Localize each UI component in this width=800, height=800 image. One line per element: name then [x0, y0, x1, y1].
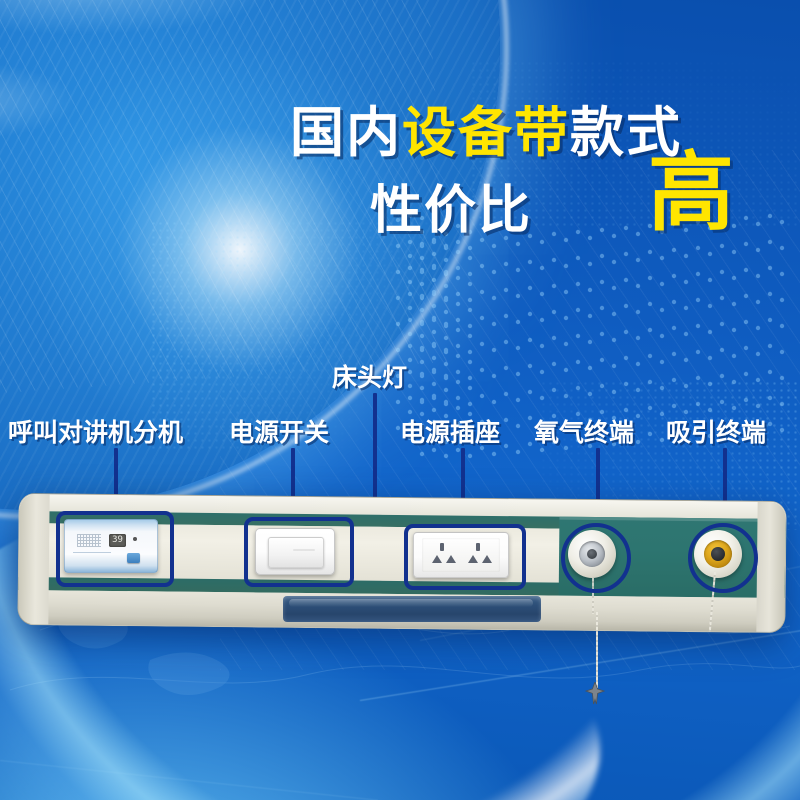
headline-line-2: 性价比	[370, 168, 532, 243]
headline-line-1: 国内设备带款式	[290, 88, 682, 167]
callout-power-switch: 电源开关	[229, 413, 329, 449]
light-strip-gloss	[289, 599, 533, 607]
highlight-power-switch	[244, 517, 354, 587]
callout-suction-outlet: 吸引终端	[666, 413, 766, 449]
panel-end-cap-right	[756, 502, 785, 633]
headline-group: 国内设备带款式 性价比 高	[0, 0, 800, 260]
headline-1-highlight: 设备带	[402, 103, 570, 163]
headline-1-part1: 国内	[290, 103, 402, 163]
callout-oxygen-outlet: 氧气终端	[534, 413, 634, 449]
highlight-oxygen-outlet	[561, 523, 631, 593]
pull-cord[interactable]	[596, 612, 598, 688]
callout-power-socket: 电源插座	[400, 413, 500, 449]
highlight-intercom	[56, 511, 174, 587]
promo-banner: 国内设备带款式 性价比 高 呼叫对讲机分机 电源开关 床头灯 电源插座 氧气终端…	[0, 0, 800, 800]
panel-end-cap-left	[18, 494, 49, 626]
highlight-power-socket	[404, 524, 526, 590]
headline-line-2-highlight: 高	[648, 150, 734, 236]
callout-intercom: 呼叫对讲机分机	[8, 413, 183, 449]
callout-bed-lamp: 床头灯	[332, 358, 407, 394]
bed-lamp-light-strip[interactable]	[283, 596, 541, 622]
pull-cord-weight[interactable]	[584, 682, 606, 706]
highlight-suction-outlet	[688, 523, 758, 593]
